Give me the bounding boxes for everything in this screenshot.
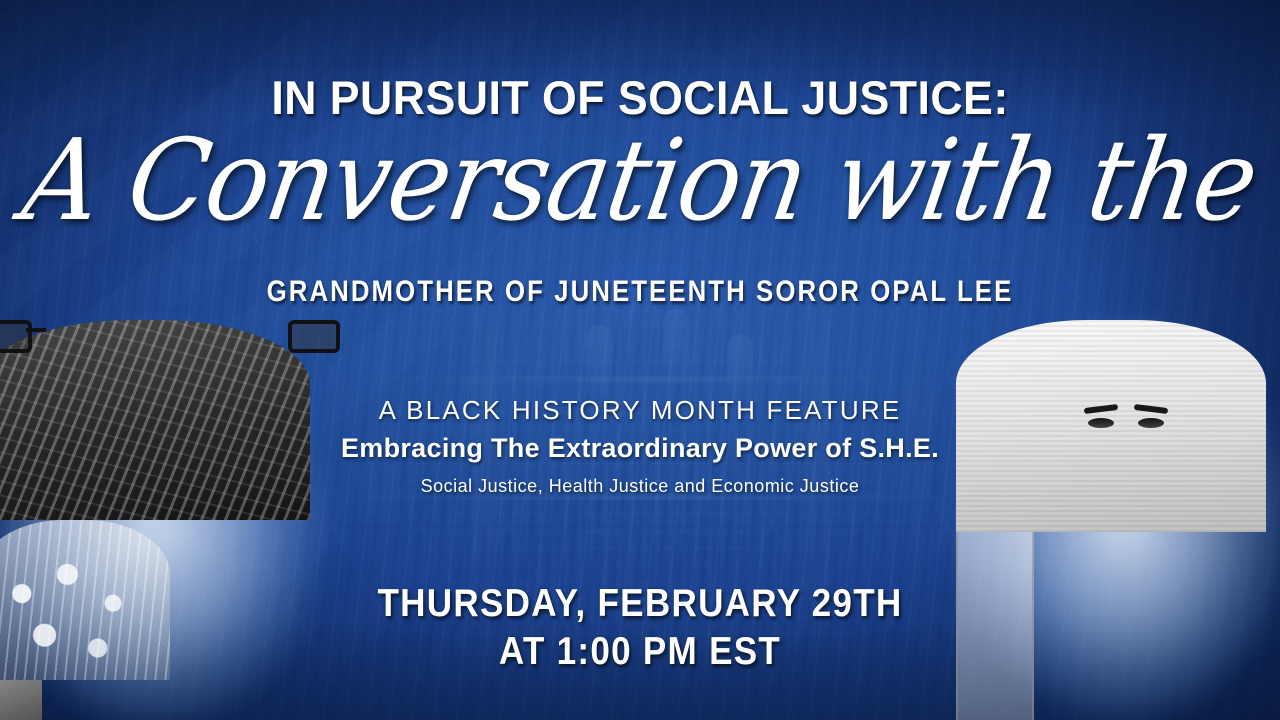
flyer-text-layer: IN PURSUIT OF SOCIAL JUSTICE: A Conversa… [0,0,1280,720]
flyer-subheadline: GRANDMOTHER OF JUNETEENTH SOROR OPAL LEE [90,277,1191,307]
feature-title: Embracing The Extraordinary Power of S.H… [0,433,1280,464]
schedule-block: THURSDAY, FEBRUARY 29TH AT 1:00 PM EST [0,582,1280,673]
event-flyer: IN PURSUIT OF SOCIAL JUSTICE: A Conversa… [0,0,1280,720]
feature-block: A BLACK HISTORY MONTH FEATURE Embracing … [0,396,1280,497]
event-time: AT 1:00 PM EST [64,630,1216,674]
feature-expansion: Social Justice, Health Justice and Econo… [0,476,1280,497]
event-date: THURSDAY, FEBRUARY 29TH [64,582,1216,626]
flyer-script-line: A Conversation with the [0,124,1280,236]
feature-eyebrow: A BLACK HISTORY MONTH FEATURE [0,396,1280,426]
